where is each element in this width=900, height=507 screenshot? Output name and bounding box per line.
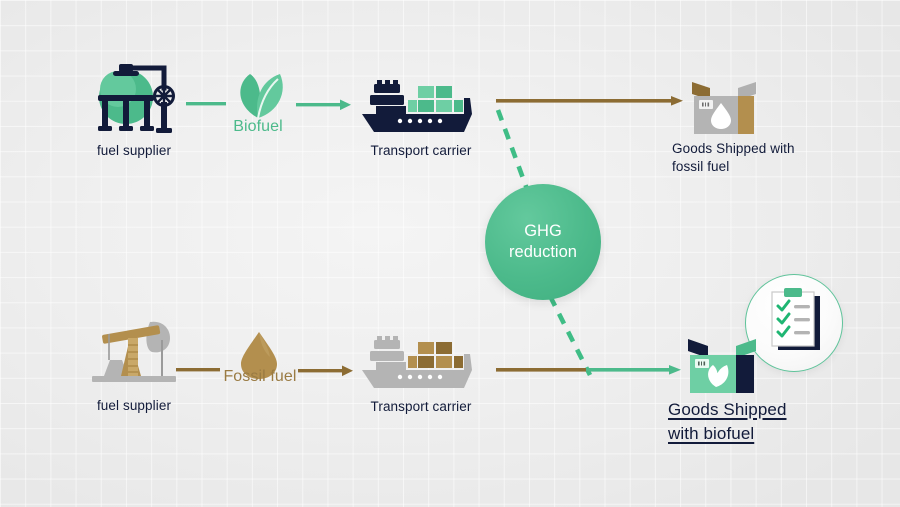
arrow-top-supplier-to-fuel [186,100,226,108]
top-supplier-label: fuel supplier [44,142,224,160]
container-ship-icon [360,74,482,136]
bottom-carrier-label: Transport carrier [336,398,506,416]
bottom-supplier-label: fuel supplier [44,397,224,415]
arrow-top-fuel-to-carrier [296,98,352,112]
biofuel-caption: Biofuel [198,118,318,136]
diagram-canvas: fuel supplier Biofuel [0,0,900,507]
open-box-biofuel-icon [686,337,760,399]
arrow-bottom-carrier-to-goods [496,364,682,378]
bottom-goods-label: Goods Shipped with biofuel [668,398,878,446]
arrow-bottom-fuel-to-carrier [298,364,354,378]
open-box-fossil-icon [688,78,760,138]
clipboard-checklist-icon [768,288,824,356]
container-ship-gray-icon [360,330,482,392]
gas-tank-icon [88,62,184,138]
oil-pumpjack-icon [88,312,184,388]
top-goods-label: Goods Shipped with fossil fuel [672,140,872,176]
leaf-icon [228,72,288,120]
ghg-reduction-badge: GHG reduction [485,184,601,300]
